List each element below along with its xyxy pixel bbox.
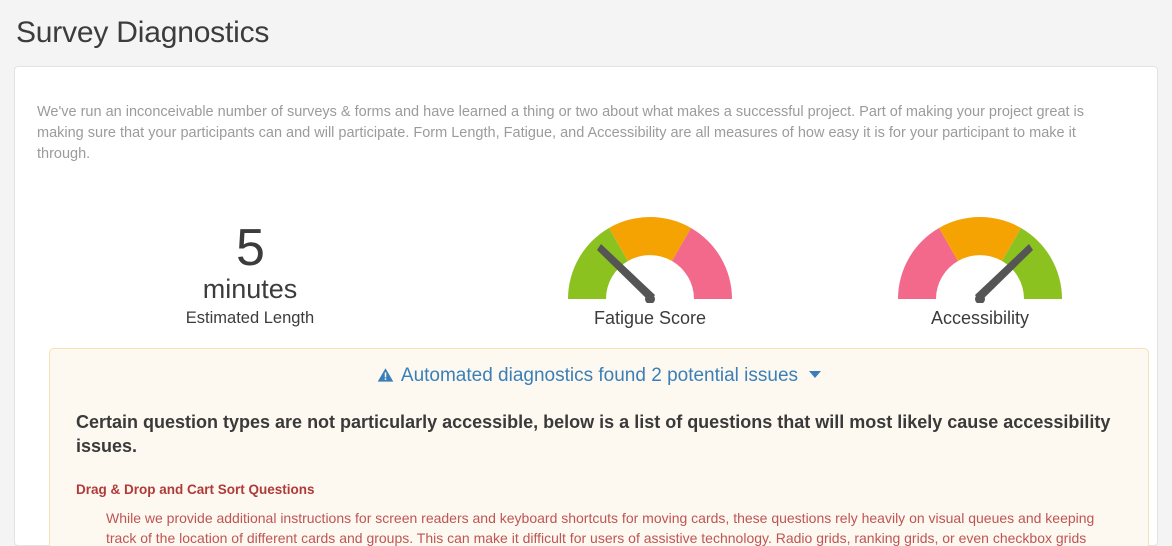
diagnostics-card: We've run an inconceivable number of sur… [14,66,1158,546]
metric-estimated-length: 5 minutes Estimated Length [15,223,485,329]
diagnostics-alert: Automated diagnostics found 2 potential … [49,348,1149,546]
estimated-length-value: 5 [15,223,485,273]
accessibility-gauge-svg [896,211,1064,303]
issue-heading: Drag & Drop and Cart Sort Questions [66,480,1132,500]
fatigue-gauge-caption: Fatigue Score [485,307,815,329]
diagnostics-toggle-label: Automated diagnostics found 2 potential … [401,365,798,386]
chevron-down-icon[interactable] [809,371,821,378]
diagnostics-toggle[interactable]: Automated diagnostics found 2 potential … [66,363,1132,391]
fatigue-gauge [566,211,734,303]
warning-triangle-icon [377,365,394,391]
metrics-row: 5 minutes Estimated Length [15,179,1157,329]
issue-body: While we provide additional instructions… [66,508,1132,546]
issue-list: Drag & Drop and Cart Sort Questions Whil… [66,480,1132,546]
metric-fatigue-score: Fatigue Score [485,211,815,329]
intro-description: We've run an inconceivable number of sur… [15,82,1125,165]
estimated-length-caption: Estimated Length [15,307,485,329]
alert-title: Certain question types are not particula… [66,410,1132,458]
issue-item: Drag & Drop and Cart Sort Questions Whil… [66,480,1132,546]
fatigue-gauge-bands [568,217,732,299]
fatigue-gauge-svg [566,211,734,303]
metric-accessibility: Accessibility [815,211,1145,329]
accessibility-gauge-caption: Accessibility [815,307,1145,329]
page-title: Survey Diagnostics [0,0,1172,54]
accessibility-gauge [896,211,1064,303]
survey-diagnostics-page: Survey Diagnostics We've run an inconcei… [0,0,1172,546]
estimated-length-unit: minutes [15,273,485,305]
accessibility-gauge-bands [898,217,1062,299]
